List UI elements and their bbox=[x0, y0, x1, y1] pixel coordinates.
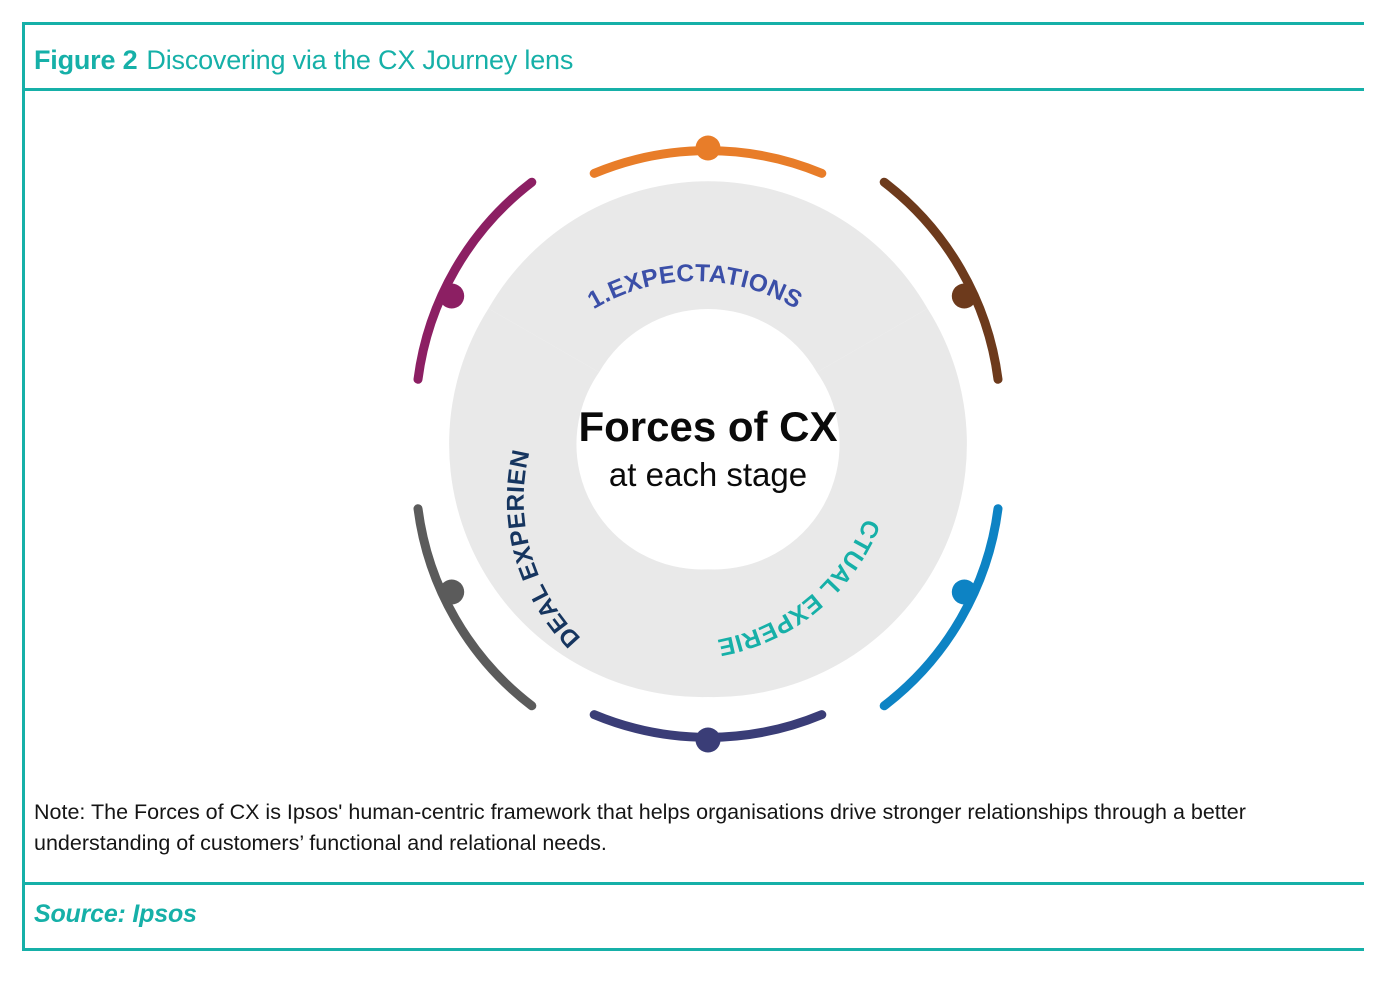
title-divider-rule bbox=[22, 88, 1364, 91]
outer-dot-lower-left bbox=[439, 580, 464, 605]
source-divider-rule bbox=[22, 882, 1364, 885]
forces-of-cx-donut-diagram: 1.EXPECTATIONS 2. ACTUAL EXPERIENCE 3. I… bbox=[0, 96, 1386, 786]
center-subtitle: at each stage bbox=[609, 456, 807, 493]
outer-dot-bottom bbox=[696, 728, 721, 753]
top-divider-rule bbox=[22, 22, 1364, 25]
outer-dot-top bbox=[696, 136, 721, 161]
outer-marker-bottom bbox=[594, 715, 822, 753]
figure-title: Figure 2 Discovering via the CX Journey … bbox=[34, 36, 573, 84]
outer-dot-upper-left bbox=[439, 284, 464, 309]
figure-title-text: Discovering via the CX Journey lens bbox=[146, 45, 573, 76]
outer-dot-upper-right bbox=[952, 284, 977, 309]
outer-marker-top bbox=[594, 136, 822, 174]
figure-note: Note: The Forces of CX is Ipsos' human-c… bbox=[34, 797, 1324, 859]
figure-container: Figure 2 Discovering via the CX Journey … bbox=[0, 0, 1386, 994]
bottom-divider-rule bbox=[22, 948, 1364, 951]
figure-source: Source: Ipsos bbox=[34, 900, 197, 929]
outer-dot-lower-right bbox=[952, 580, 977, 605]
figure-label: Figure 2 bbox=[34, 45, 137, 76]
center-title: Forces of CX bbox=[578, 403, 837, 450]
